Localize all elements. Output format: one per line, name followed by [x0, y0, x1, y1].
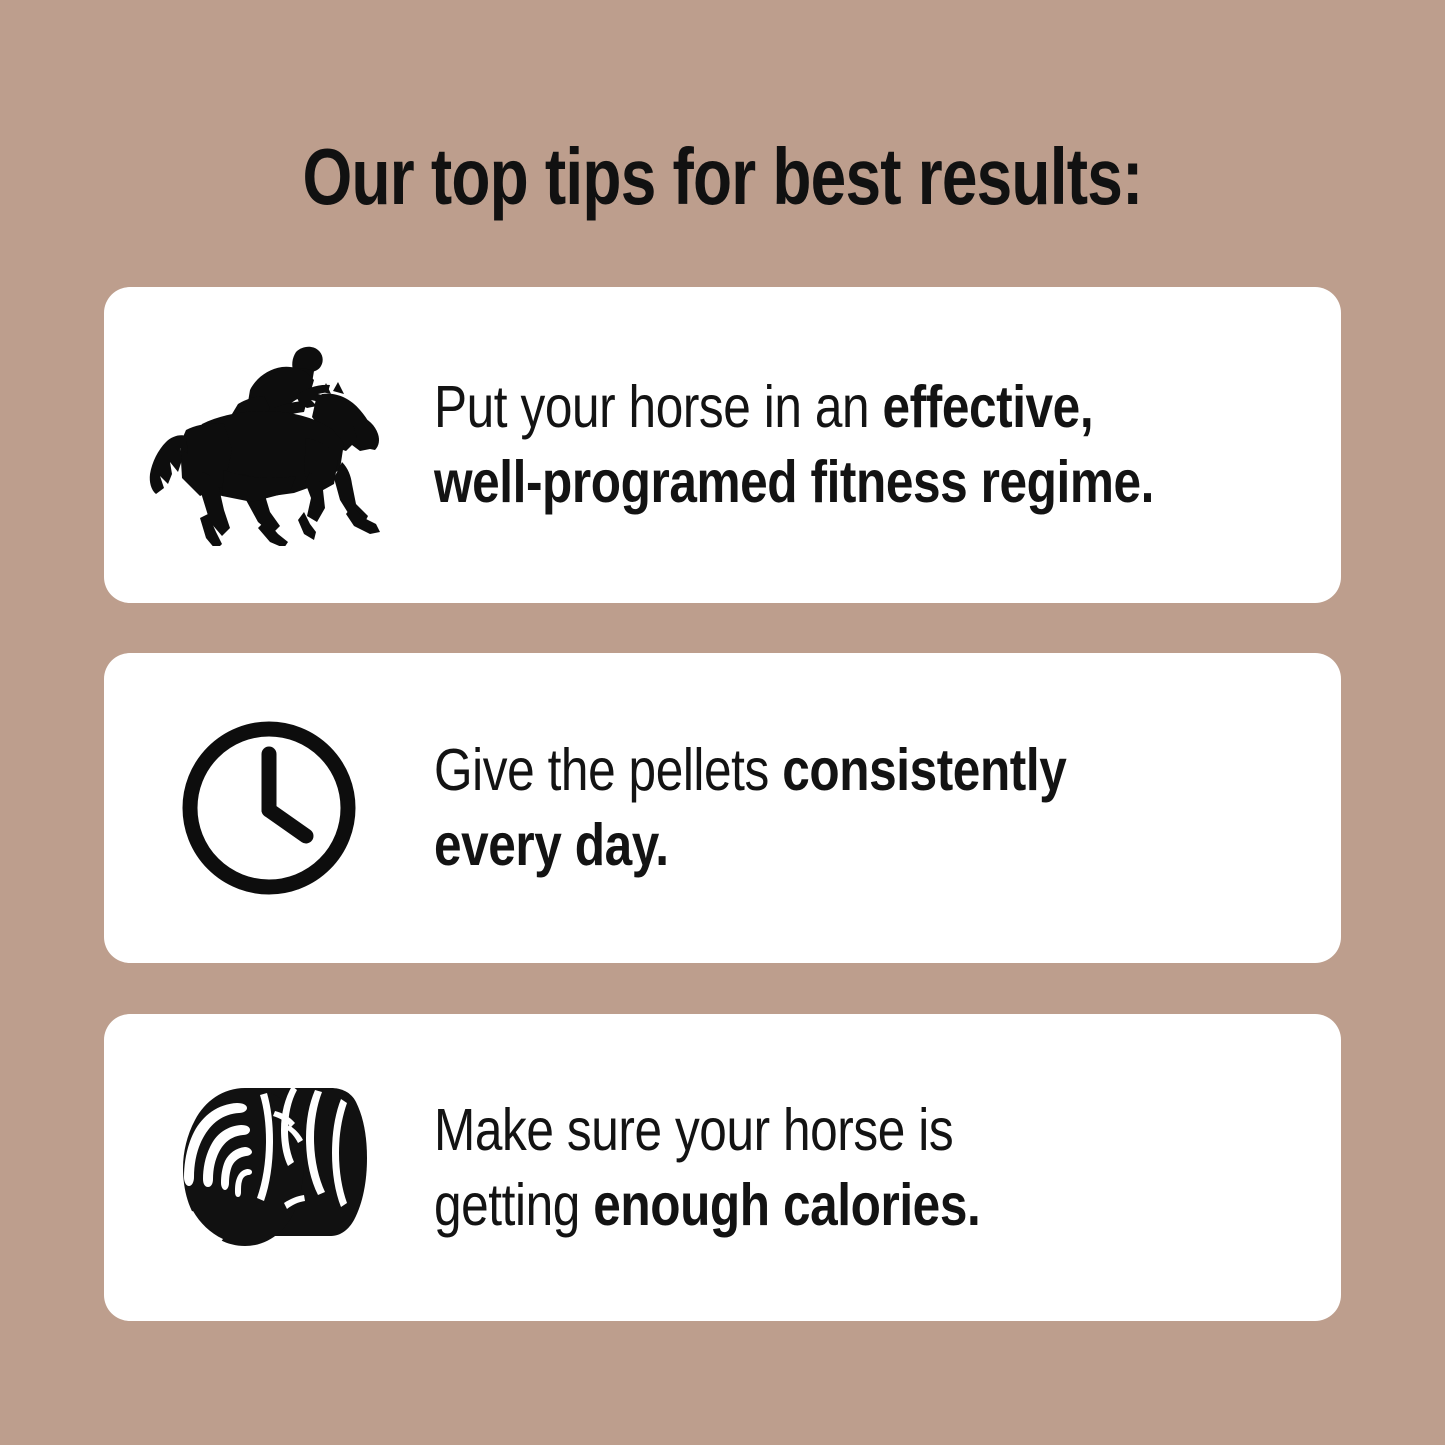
tips-infographic: Our top tips for best results:: [0, 0, 1445, 1445]
horse-rider-icon: [146, 344, 392, 546]
tip-card-1-line-2: well-programed fitness regime.: [434, 445, 1162, 520]
tip-card-2-text: Give the pellets consistently every day.: [434, 733, 1341, 883]
tip-card-2-icon-slot: [104, 653, 434, 963]
page-title: Our top tips for best results:: [145, 132, 1301, 222]
text-bold: enough calories.: [593, 1172, 980, 1238]
text-bold: effective,: [883, 374, 1094, 440]
text-bold: consistently: [782, 737, 1066, 803]
tip-card-2: Give the pellets consistently every day.: [104, 653, 1341, 963]
tip-card-1-icon-slot: [104, 287, 434, 603]
text-regular: Put your horse in an: [434, 374, 883, 440]
hay-bale-icon: [171, 1085, 367, 1251]
text-bold: every day.: [434, 812, 669, 878]
text-regular: Make sure your horse is: [434, 1097, 953, 1163]
tip-card-3: Make sure your horse is getting enough c…: [104, 1014, 1341, 1321]
tip-card-2-line-1: Give the pellets consistently: [434, 733, 1162, 808]
text-regular: Give the pellets: [434, 737, 782, 803]
clock-icon: [179, 718, 359, 898]
tip-card-3-icon-slot: [104, 1014, 434, 1321]
text-bold: well-programed fitness regime.: [434, 449, 1154, 515]
tip-card-3-line-1: Make sure your horse is: [434, 1093, 1162, 1168]
tip-card-1-line-1: Put your horse in an effective,: [434, 370, 1162, 445]
tip-card-1: Put your horse in an effective, well-pro…: [104, 287, 1341, 603]
tip-card-2-line-2: every day.: [434, 808, 1162, 883]
tip-card-3-line-2: getting enough calories.: [434, 1168, 1162, 1243]
tip-card-3-text: Make sure your horse is getting enough c…: [434, 1093, 1341, 1243]
tip-card-1-text: Put your horse in an effective, well-pro…: [434, 370, 1341, 520]
text-regular: getting: [434, 1172, 593, 1238]
